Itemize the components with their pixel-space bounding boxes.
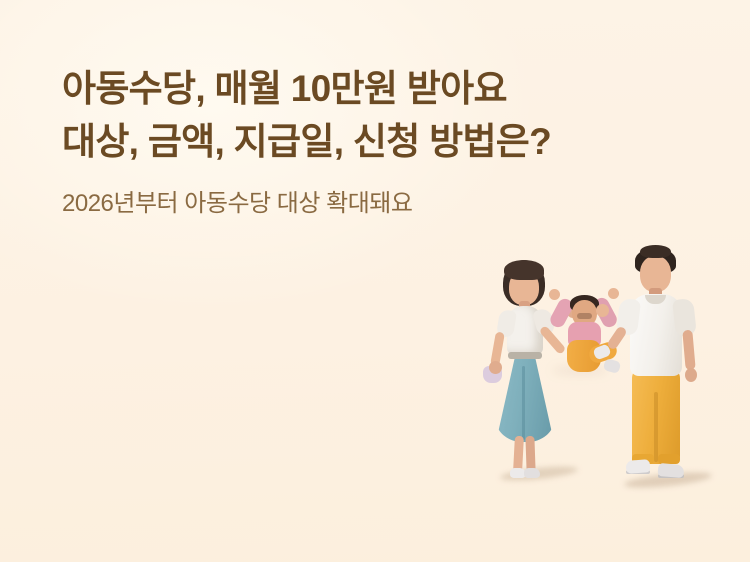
mother-leg-left	[513, 436, 524, 472]
mother-leg-right	[525, 436, 535, 472]
father-shoe-left	[626, 459, 651, 474]
mother-shoe-right	[524, 468, 540, 478]
promo-banner: 아동수당, 매월 10만원 받아요 대상, 금액, 지급일, 신청 방법은? 2…	[0, 0, 750, 562]
child-face-detail	[577, 313, 592, 319]
father-arm-left	[606, 325, 628, 350]
mother-hair-front-icon	[504, 260, 544, 280]
father-hand-left	[596, 304, 609, 317]
mother-hand-left	[489, 361, 502, 374]
mother-skirt-fold	[522, 366, 525, 440]
family-illustration	[448, 236, 720, 494]
father-hair-tuft	[640, 245, 671, 258]
mother-skirt	[496, 356, 554, 442]
mother-waistband	[508, 352, 542, 359]
subheadline: 2026년부터 아동수당 대상 확대돼요	[62, 188, 682, 220]
father-hand-right	[685, 368, 697, 382]
father-pant-seam	[654, 392, 658, 462]
father-arm-right	[682, 330, 695, 371]
father-figure	[604, 242, 722, 486]
father-shoe-right	[657, 463, 684, 478]
headline-line-2: 대상, 금액, 지급일, 신청 방법은?	[62, 115, 682, 168]
child-hand-left	[549, 289, 560, 300]
text-block: 아동수당, 매월 10만원 받아요 대상, 금액, 지급일, 신청 방법은? 2…	[62, 62, 682, 220]
headline-line-1: 아동수당, 매월 10만원 받아요	[62, 62, 682, 115]
father-head	[640, 256, 671, 292]
